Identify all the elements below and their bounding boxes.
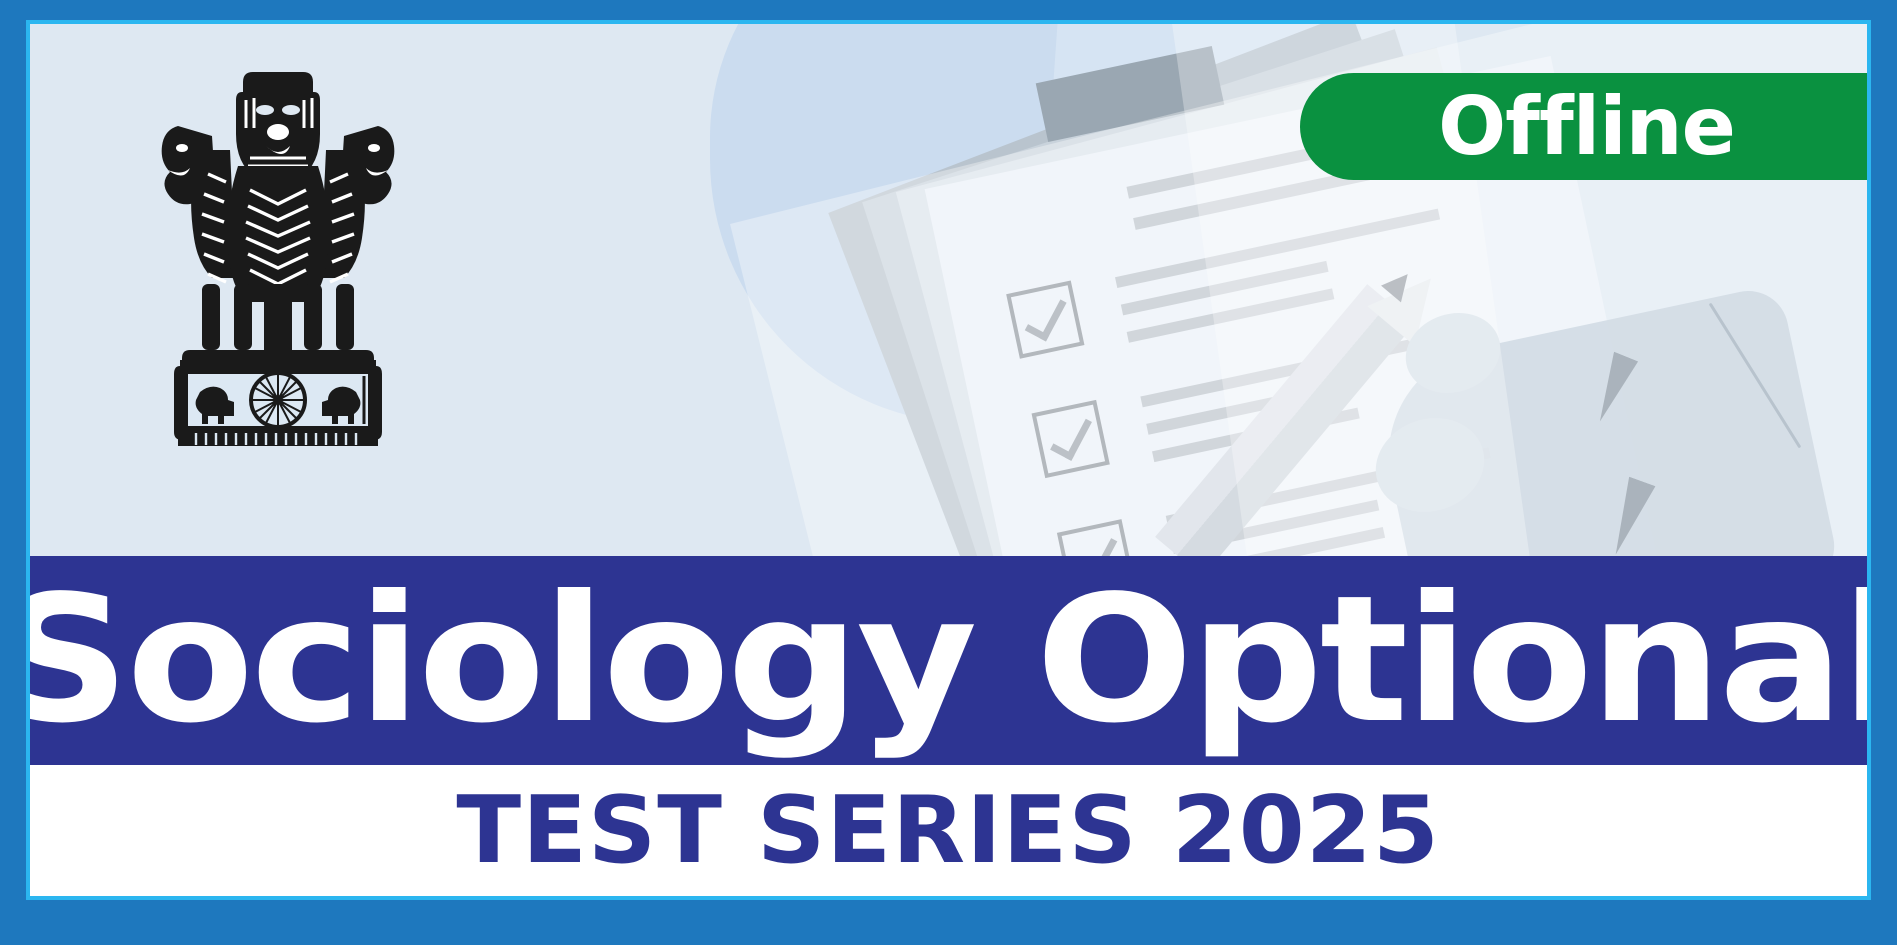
ashoka-lion-capital-emblem-icon — [138, 54, 418, 454]
course-title-band: Sociology Optional — [30, 556, 1867, 765]
banner-content-card: Offline Sociology Optional TEST SERIES 2… — [30, 24, 1867, 896]
course-banner: Offline Sociology Optional TEST SERIES 2… — [0, 0, 1897, 945]
course-subtitle-band: TEST SERIES 2025 — [30, 765, 1867, 896]
page-subtitle: TEST SERIES 2025 — [457, 784, 1441, 877]
offline-badge-label: Offline — [1438, 87, 1735, 167]
offline-status-badge: Offline — [1300, 73, 1867, 180]
page-title: Sociology Optional — [30, 573, 1867, 748]
banner-hero-illustration: Offline — [30, 24, 1867, 556]
